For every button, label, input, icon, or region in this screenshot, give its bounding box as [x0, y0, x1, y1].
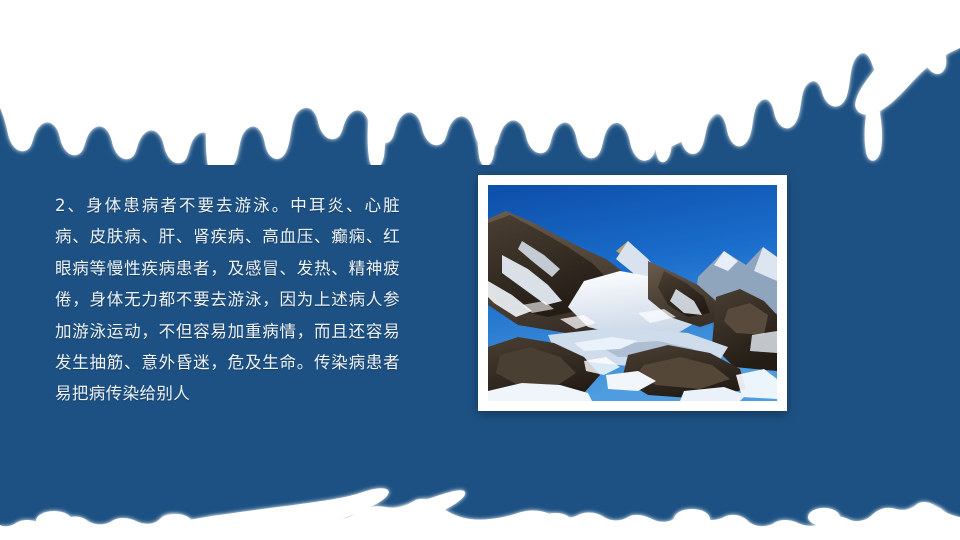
body-text-block: 2、身体患病者不要去游泳。中耳炎、心脏病、皮肤病、肝、肾疾病、高血压、癫痫、红眼… [55, 190, 400, 410]
photo-frame [478, 175, 787, 411]
snow-drift-bottom-decoration [0, 435, 960, 540]
snow-drip-top-decoration [0, 0, 960, 165]
snow-drip-top-shape [0, 0, 960, 165]
snow-drift-bottom-shape [0, 435, 960, 540]
snowflake-logo [19, 23, 55, 57]
slide-canvas: 2、身体患病者不要去游泳。中耳炎、心脏病、皮肤病、肝、肾疾病、高血压、癫痫、红眼… [0, 0, 960, 540]
snowflake-icon [19, 23, 55, 57]
snowy-mountain-illustration [488, 185, 777, 401]
body-paragraph: 2、身体患病者不要去游泳。中耳炎、心脏病、皮肤病、肝、肾疾病、高血压、癫痫、红眼… [55, 190, 400, 410]
snowy-mountain-photo [488, 185, 777, 401]
